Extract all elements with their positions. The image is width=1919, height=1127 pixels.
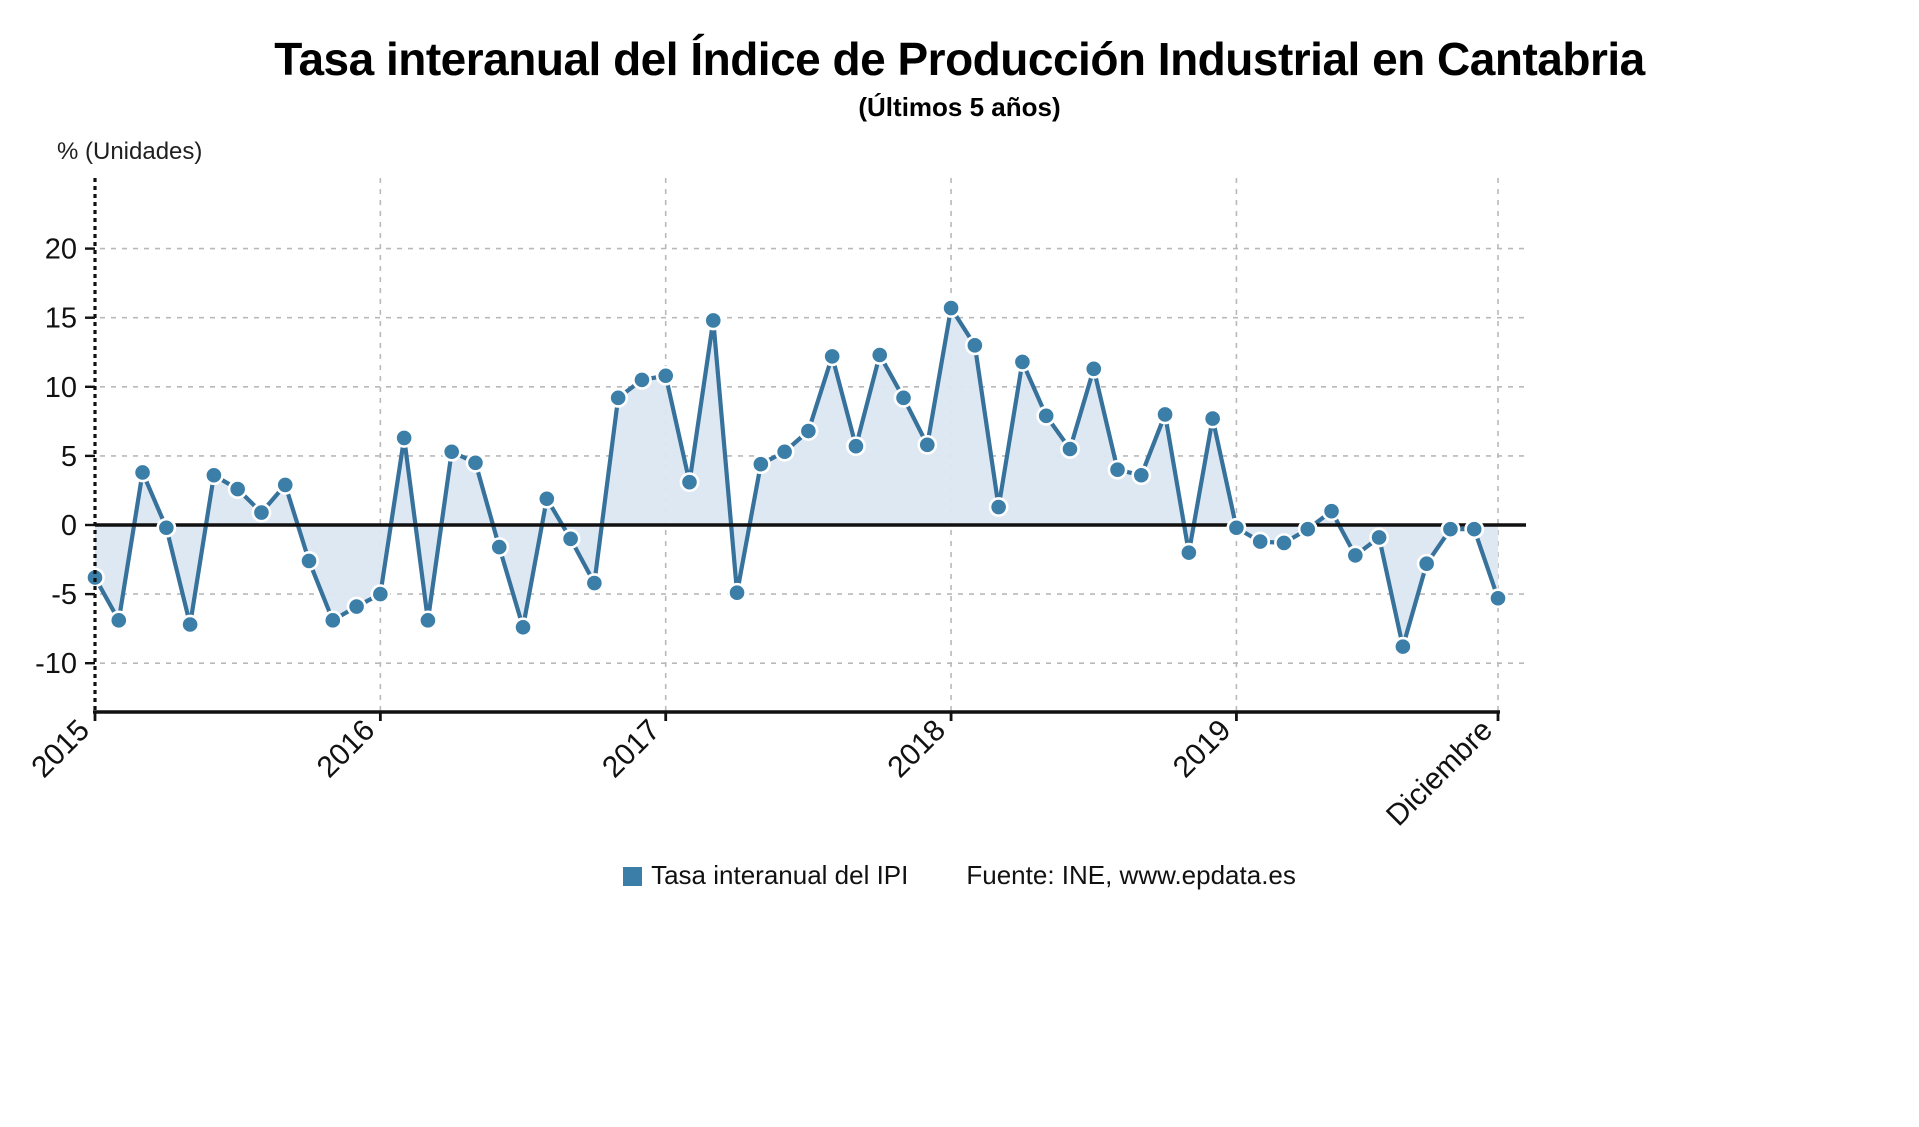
x-axis-tick-label-group: 2016 [311,714,382,785]
data-point-marker[interactable] [514,619,531,636]
data-point-marker[interactable] [776,443,793,460]
data-point-marker[interactable] [253,504,270,521]
data-point-marker[interactable] [942,299,959,316]
data-point-marker[interactable] [134,464,151,481]
x-axis-tick-label-group: 2017 [596,714,667,785]
data-point-marker[interactable] [182,616,199,633]
data-point-marker[interactable] [1299,521,1316,538]
data-point-marker[interactable] [610,389,627,406]
data-point-marker[interactable] [705,312,722,329]
data-point-marker[interactable] [1323,503,1340,520]
data-point-marker[interactable] [1085,360,1102,377]
data-point-marker[interactable] [1371,529,1388,546]
data-point-marker[interactable] [419,612,436,629]
y-axis-tick-label: 20 [45,234,77,266]
data-point-marker[interactable] [633,371,650,388]
chart-root: Tasa interanual del Índice de Producción… [0,0,1919,1127]
data-point-marker[interactable] [1204,410,1221,427]
legend-color-swatch-icon [623,867,642,886]
data-point-marker[interactable] [871,346,888,363]
data-point-marker[interactable] [1442,521,1459,538]
chart-legend: Tasa interanual del IPIFuente: INE, www.… [0,860,1919,891]
data-point-marker[interactable] [1394,638,1411,655]
data-point-marker[interactable] [1180,544,1197,561]
plot-area: 20151050-5-1020152016201720182019Diciemb… [0,0,1919,1127]
data-point-marker[interactable] [1252,533,1269,550]
x-axis-tick-label: 2019 [1167,714,1238,785]
data-point-marker[interactable] [847,438,864,455]
data-point-marker[interactable] [1347,547,1364,564]
legend-series-label: Tasa interanual del IPI [651,860,908,891]
data-point-marker[interactable] [1156,406,1173,423]
y-axis-tick-label: -10 [35,648,77,680]
data-point-marker[interactable] [895,389,912,406]
x-axis-tick-label: 2016 [311,714,382,785]
data-point-marker[interactable] [752,456,769,473]
data-point-marker[interactable] [110,612,127,629]
x-axis-tick-label-group: 2015 [25,714,96,785]
x-axis-tick-label-group: Diciembre [1380,714,1499,833]
data-point-marker[interactable] [348,598,365,615]
x-axis-tick-label: 2015 [25,714,96,785]
line-chart-svg: 20151050-5-1020152016201720182019Diciemb… [0,0,1919,1127]
x-axis-tick-label: 2018 [881,714,952,785]
data-point-marker[interactable] [1489,590,1506,607]
data-point-marker[interactable] [800,422,817,439]
data-point-marker[interactable] [467,454,484,471]
data-point-marker[interactable] [300,552,317,569]
data-point-marker[interactable] [372,586,389,603]
data-point-marker[interactable] [1228,519,1245,536]
x-axis-tick-label: 2017 [596,714,667,785]
y-axis-tick-label: 15 [45,303,77,335]
data-point-marker[interactable] [205,467,222,484]
data-point-marker[interactable] [966,337,983,354]
x-axis-tick-label-group: 2019 [1167,714,1238,785]
data-point-marker[interactable] [562,530,579,547]
data-point-marker[interactable] [324,612,341,629]
data-point-marker[interactable] [1275,534,1292,551]
data-point-marker[interactable] [229,480,246,497]
data-point-marker[interactable] [586,574,603,591]
y-axis-tick-label: 5 [61,441,77,473]
data-point-marker[interactable] [1418,555,1435,572]
data-point-marker[interactable] [538,490,555,507]
x-axis-tick-label: Diciembre [1380,714,1499,833]
data-point-marker[interactable] [681,474,698,491]
data-point-marker[interactable] [1109,461,1126,478]
data-point-marker[interactable] [824,348,841,365]
data-point-marker[interactable] [1061,440,1078,457]
y-axis-tick-label: 0 [61,510,77,542]
data-point-marker[interactable] [277,476,294,493]
data-point-marker[interactable] [491,539,508,556]
y-axis-tick-label: -5 [51,579,77,611]
data-point-marker[interactable] [919,436,936,453]
data-point-marker[interactable] [396,429,413,446]
x-axis-tick-label-group: 2018 [881,714,952,785]
data-point-marker[interactable] [1133,467,1150,484]
data-point-marker[interactable] [158,519,175,536]
data-point-marker[interactable] [1014,353,1031,370]
data-point-marker[interactable] [657,367,674,384]
data-point-marker[interactable] [1466,521,1483,538]
data-point-marker[interactable] [443,443,460,460]
y-axis-tick-label: 10 [45,372,77,404]
data-point-marker[interactable] [990,498,1007,515]
legend-source-label: Fuente: INE, www.epdata.es [966,860,1296,891]
data-point-marker[interactable] [728,584,745,601]
series-area-fill [95,308,1498,647]
data-point-marker[interactable] [1038,407,1055,424]
